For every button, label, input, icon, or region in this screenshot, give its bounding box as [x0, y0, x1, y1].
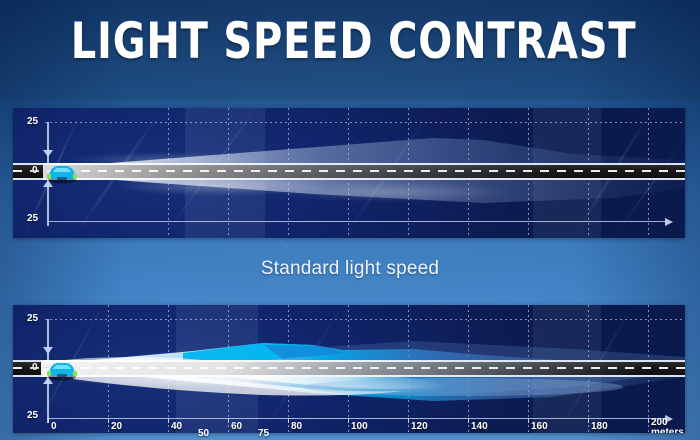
x-axis-arrow [665, 218, 673, 226]
y-tick-zero [43, 367, 49, 368]
x-tick [408, 418, 409, 423]
standard-speed-caption: Standard light speed [0, 258, 700, 280]
x-tick-label-40: 40 [171, 421, 182, 432]
standard-light-speed-chart[interactable]: 25 0 25 [13, 108, 685, 238]
y-tick-label-top: 25 [27, 116, 38, 127]
x-tick [228, 418, 229, 423]
x-tick [648, 418, 649, 423]
infographic-root: LIGHT SPEED CONTRAST [0, 0, 700, 440]
x-tick [48, 418, 49, 423]
x-tick [588, 418, 589, 423]
x-tick-label-160: 160 [531, 421, 548, 432]
gridline-horizontal [45, 319, 685, 320]
car-icon [45, 359, 79, 381]
x-tick-label-20: 20 [111, 421, 122, 432]
x-axis-line [47, 221, 667, 222]
y-tick-label-zero: 0 [32, 362, 38, 373]
x-tick [108, 418, 109, 423]
y-axis-arrow-down [43, 150, 53, 157]
page-title: LIGHT SPEED CONTRAST [71, 14, 637, 68]
gridline-horizontal [45, 122, 685, 123]
x-tick-label-120: 120 [411, 421, 428, 432]
y-tick-label-bottom: 25 [27, 410, 38, 421]
page-title-wrapper: LIGHT SPEED CONTRAST [0, 14, 700, 68]
x-tick-label-60: 60 [231, 421, 242, 432]
y-tick-zero [43, 170, 49, 171]
x-axis-line [47, 418, 667, 419]
car-icon [45, 162, 79, 184]
x-tick [468, 418, 469, 423]
y-tick-label-bottom: 25 [27, 213, 38, 224]
road-lit-overlay [41, 360, 641, 377]
x-tick-label-140: 140 [471, 421, 488, 432]
enhanced-light-speed-chart[interactable]: 25 0 25 0 20 40 60 80 100 120 140 160 18… [13, 305, 685, 433]
x-tick-label-180: 180 [591, 421, 608, 432]
x-tick-label-0: 0 [51, 421, 57, 432]
y-tick-label-zero: 0 [32, 165, 38, 176]
road-lit-overlay [43, 163, 563, 180]
x-tick-label-100: 100 [351, 421, 368, 432]
x-tick [348, 418, 349, 423]
x-axis-unit-label: meters [651, 427, 684, 433]
x-tick-label-80: 80 [291, 421, 302, 432]
x-sub-tick-label-75: 75 [258, 428, 269, 439]
x-tick [168, 418, 169, 423]
y-tick-label-top: 25 [27, 313, 38, 324]
y-axis-arrow-down [43, 347, 53, 354]
x-tick [528, 418, 529, 423]
x-sub-tick-label-50: 50 [198, 428, 209, 439]
x-tick [288, 418, 289, 423]
